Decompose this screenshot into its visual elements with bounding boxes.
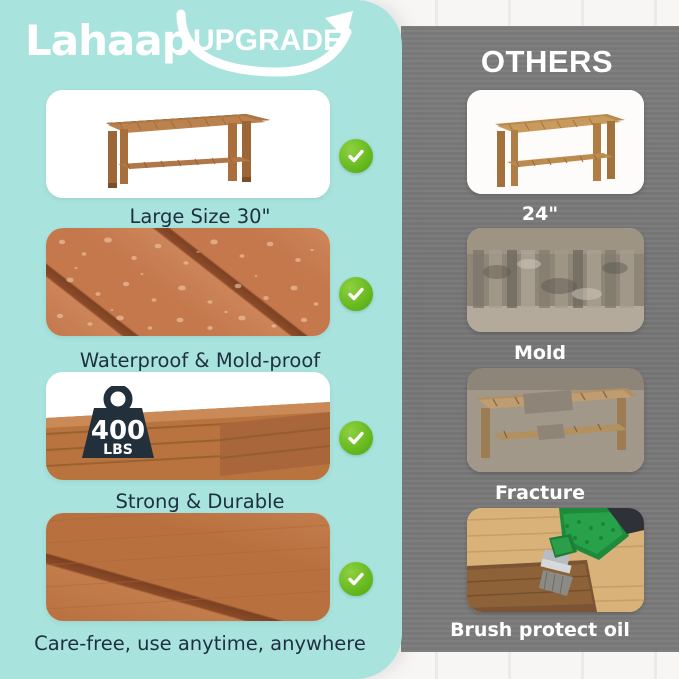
brand-header: Lahaap UPGRADE [0, 8, 400, 70]
others-caption-1: 24" [401, 203, 679, 225]
others-column: 24" [401, 0, 679, 679]
check-badge-3 [339, 421, 373, 455]
waterproof-deck-image [46, 228, 330, 336]
upgrade-card-4 [46, 513, 330, 621]
weight-unit: LBS [103, 442, 133, 458]
check-icon [346, 569, 366, 589]
check-icon [346, 428, 366, 448]
mold-wood-image [467, 228, 644, 332]
others-caption-2: Mold [401, 342, 679, 364]
upgrade-caption-1: Large Size 30" [0, 205, 400, 228]
others-card-2 [467, 228, 644, 332]
small-bench-image [467, 90, 644, 194]
others-title: OTHERS [401, 44, 679, 80]
others-card-4 [467, 508, 644, 612]
upgrade-card-3: 400 LBS [46, 372, 330, 480]
upgrade-caption-3: Strong & Durable [0, 490, 400, 513]
fracture-bench-image [467, 368, 644, 472]
upgrade-caption-4: Care-free, use anytime, anywhere [0, 632, 400, 655]
upgrade-column: Large Size 30" [0, 0, 400, 679]
others-caption-4: Brush protect oil [401, 619, 679, 641]
upward-arrow-icon [175, 6, 365, 78]
check-badge-2 [339, 277, 373, 311]
large-bench-image [46, 90, 330, 198]
brand-logo: Lahaap [25, 16, 191, 65]
check-badge-4 [339, 562, 373, 596]
strong-durable-image: 400 LBS [46, 372, 330, 480]
weight-icon: 400 LBS [74, 386, 162, 462]
others-card-1 [467, 90, 644, 194]
carefree-deck-image [46, 513, 330, 621]
check-icon [346, 284, 366, 304]
check-badge-1 [339, 139, 373, 173]
brush-oil-image [467, 508, 644, 612]
upgrade-card-2 [46, 228, 330, 336]
upgrade-card-1 [46, 90, 330, 198]
others-card-3 [467, 368, 644, 472]
upgrade-caption-2: Waterproof & Mold-proof [0, 349, 400, 372]
others-caption-3: Fracture [401, 482, 679, 504]
check-icon [346, 146, 366, 166]
